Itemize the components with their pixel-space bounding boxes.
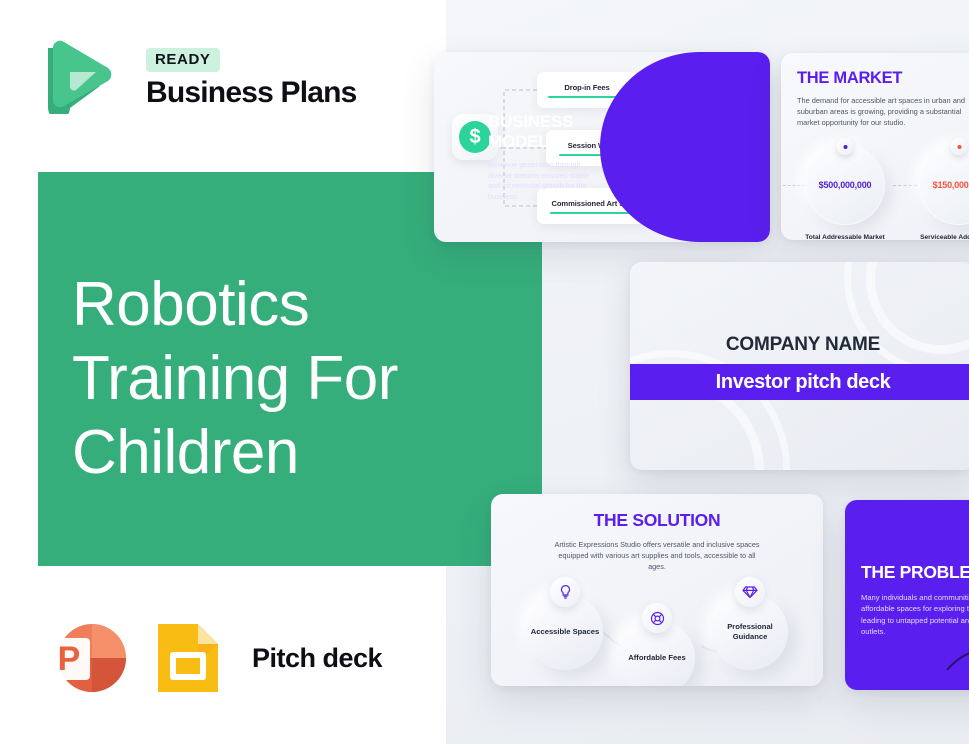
brand-logo[interactable]: READY Business Plans — [38, 34, 338, 118]
metric-amount: $150,000,000 — [933, 180, 969, 190]
metric-caption: Serviceable Addressable Market (SAM) — [913, 233, 969, 240]
diamond-icon — [735, 577, 765, 607]
slide-company-name[interactable]: COMPANY NAME Investor pitch deck — [630, 262, 969, 470]
problem-title: THE PROBLEM — [861, 562, 969, 583]
play-triangle-logo-icon — [38, 34, 112, 114]
problem-description: Many individuals and communities lack ac… — [861, 592, 969, 638]
metric-caption: Total Addressable Market (TAM) — [799, 233, 891, 240]
slide-the-solution[interactable]: THE SOLUTION Artistic Expressions Studio… — [491, 494, 823, 686]
pitch-deck-preview: READY Business Plans Robotics Training F… — [0, 0, 969, 744]
market-metric: $150,000,000 Serviceable Addressable Mar… — [919, 145, 969, 240]
market-metric: $500,000,000 Total Addressable Market (T… — [805, 145, 891, 240]
solution-node[interactable]: Accessible Spaces — [527, 594, 603, 670]
solution-node[interactable]: Affordable Fees — [619, 620, 695, 686]
lifebuoy-icon — [642, 603, 672, 633]
business-model-title: BUSINESS MODEL — [488, 112, 598, 152]
business-model-description: Revenue generation through diverse strea… — [488, 160, 598, 202]
metric-knob-icon — [951, 138, 968, 155]
format-list: P Pitch deck — [40, 612, 382, 704]
formats-label: Pitch deck — [252, 643, 382, 674]
google-slides-icon[interactable] — [154, 620, 222, 696]
slide-business-model[interactable]: $ Drop-in Fees Session Workshops Commiss… — [434, 52, 770, 242]
investor-pitch-band: Investor pitch deck — [630, 364, 969, 400]
page-title: Robotics Training For Children — [72, 268, 492, 490]
solution-node-label: Affordable Fees — [628, 653, 685, 663]
investor-pitch-label: Investor pitch deck — [630, 364, 969, 400]
decorative-swoosh-icon — [945, 640, 969, 680]
svg-text:P: P — [58, 640, 81, 678]
slide-the-market[interactable]: THE MARKET The demand for accessible art… — [781, 53, 969, 240]
powerpoint-icon[interactable]: P — [40, 612, 132, 704]
brand-name: Business Plans — [146, 76, 357, 110]
decorative-ring — [844, 262, 969, 376]
company-name: COMPANY NAME — [630, 334, 969, 356]
solution-node-label: Accessible Spaces — [531, 627, 599, 637]
ready-badge: READY — [146, 48, 220, 72]
market-title: THE MARKET — [797, 69, 902, 88]
solution-node-label: Professional Guidance — [712, 622, 788, 642]
revenue-stream-label: Drop-in Fees — [564, 83, 609, 92]
lightbulb-icon — [550, 577, 580, 607]
metric-amount: $500,000,000 — [819, 180, 872, 190]
slide-the-problem[interactable]: THE PROBLEM Many individuals and communi… — [845, 500, 969, 690]
metric-knob-icon — [837, 138, 854, 155]
solution-node[interactable]: Professional Guidance — [712, 594, 788, 670]
market-description: The demand for accessible art spaces in … — [797, 95, 969, 128]
